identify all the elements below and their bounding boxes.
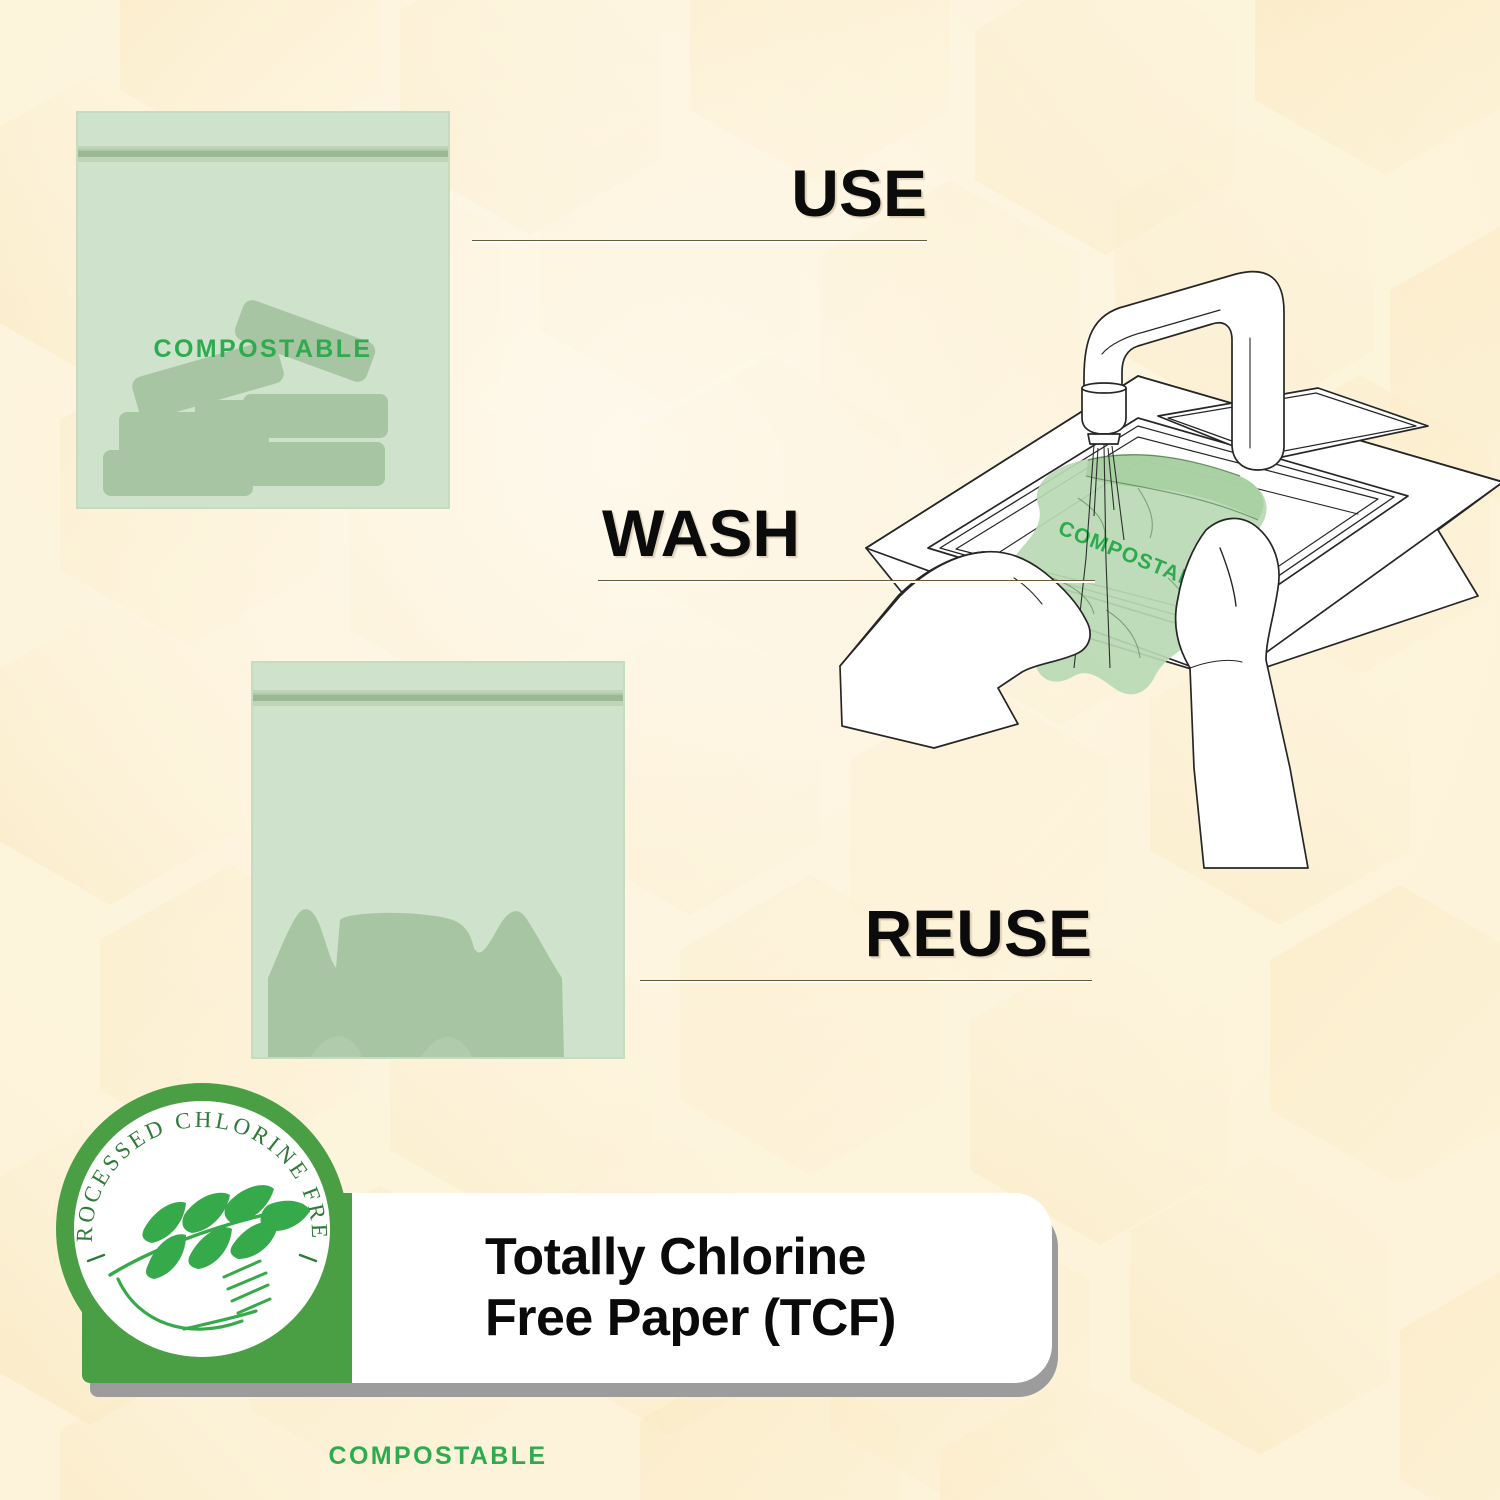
compostable-bag-full: COMPOSTABLE <box>75 110 451 510</box>
compostable-zipper-bag-icon <box>250 660 626 1060</box>
step-wash-title: WASH <box>598 500 1095 566</box>
compostable-zipper-bag-icon <box>75 110 451 510</box>
banner-line-1: Totally Chlorine <box>485 1227 1047 1288</box>
step-reuse-divider <box>640 980 1092 983</box>
step-wash: WASH <box>598 500 1095 583</box>
processed-chlorine-free-badge-svg: PROCESSED CHLORINE FREE <box>52 1079 352 1379</box>
compostable-bag-reused: COMPOSTABLE <box>250 660 626 1060</box>
bag-two-label: COMPOSTABLE <box>250 1442 626 1471</box>
step-wash-divider <box>598 580 1095 583</box>
processed-chlorine-free-badge: PROCESSED CHLORINE FREE <box>52 1079 352 1379</box>
step-use: USE <box>472 160 927 243</box>
step-reuse-title: REUSE <box>640 900 1092 966</box>
bag-one-label: COMPOSTABLE <box>75 335 451 364</box>
infographic-canvas: COMPOSTABLE COMPOSTABLE USE <box>0 0 1500 1500</box>
step-reuse: REUSE <box>640 900 1092 983</box>
tcf-callout: Totally Chlorine Free Paper (TCF) PROCES… <box>52 1185 1062 1400</box>
step-use-divider <box>472 240 927 243</box>
banner-line-2: Free Paper (TCF) <box>485 1288 1047 1349</box>
banner-text: Totally Chlorine Free Paper (TCF) <box>407 1193 1047 1383</box>
step-use-title: USE <box>472 160 927 226</box>
